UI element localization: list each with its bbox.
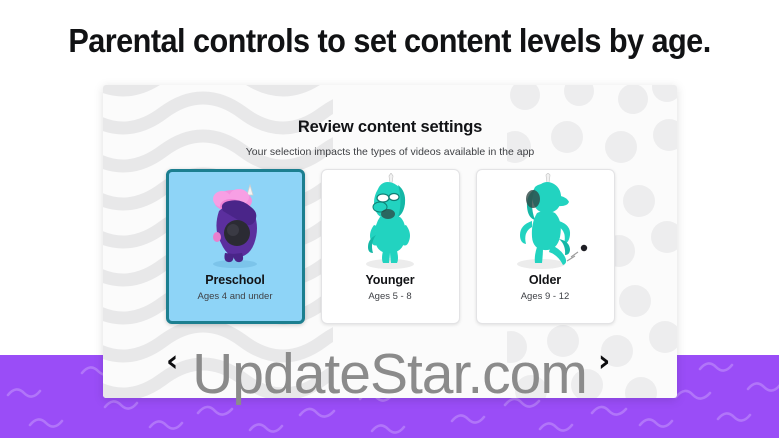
app-heading: Review content settings [103,118,677,137]
preschool-art [169,172,302,271]
option-label: Older [529,273,561,287]
option-label: Younger [365,273,414,287]
carousel-next-button[interactable]: › [598,347,610,377]
option-label: Preschool [205,273,265,287]
option-card-younger[interactable]: Younger Ages 5 - 8 [321,169,460,324]
option-ages: Ages 9 - 12 [521,291,570,302]
page-title: Parental controls to set content levels … [27,22,751,60]
app-screenshot-card: Review content settings Your selection i… [103,85,677,398]
content-level-options: Preschool Ages 4 and under [103,169,677,324]
option-card-older[interactable]: Older Ages 9 - 12 [476,169,615,324]
option-ages: Ages 5 - 8 [368,291,411,302]
option-card-preschool[interactable]: Preschool Ages 4 and under [166,169,305,324]
purple-monster-character-icon [195,175,275,271]
teal-unicorn-standing-character-icon [350,173,430,271]
carousel-prev-button[interactable]: ‹ [166,347,178,377]
younger-art [322,170,459,271]
app-subheading: Your selection impacts the types of vide… [103,146,677,158]
page-root: Parental controls to set content levels … [0,0,779,438]
teal-unicorn-kicking-ball-character-icon [499,173,591,271]
older-art [477,170,614,271]
option-ages: Ages 4 and under [197,291,272,302]
